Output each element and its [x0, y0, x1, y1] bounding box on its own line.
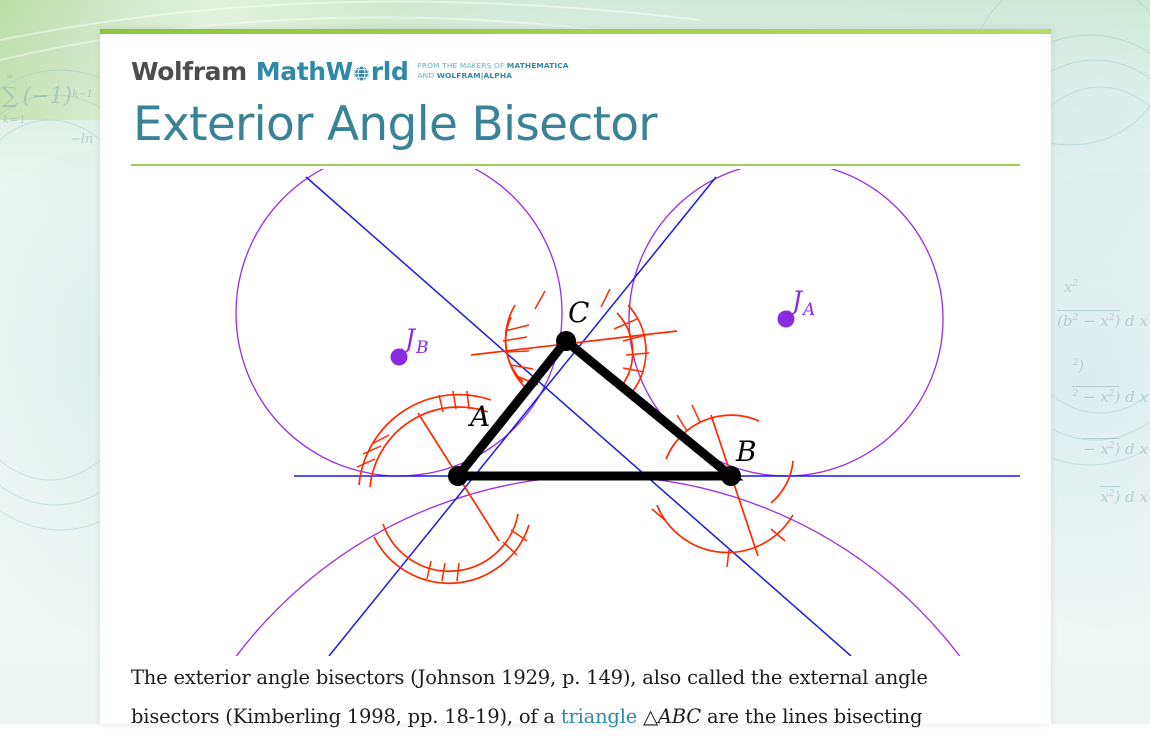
tagline-line-1: FROM THE MAKERS OF MATHEMATICA	[417, 61, 568, 70]
logo-wolfram-text: Wolfram	[131, 59, 247, 85]
body-line-2: bisectors (Kimberling 1998, pp. 18-19), …	[131, 697, 1020, 736]
background-formula: ∑ (−1)k−1	[2, 84, 93, 109]
card-top-accent-bar	[100, 29, 1051, 34]
page-title: Exterior Angle Bisector	[133, 96, 1020, 154]
logo-world-rld: rld	[371, 59, 409, 85]
exterior-angle-bisector-diagram[interactable]: C A B JB JA	[131, 169, 1020, 656]
vertex-label-c: C	[568, 296, 589, 329]
logo-world-w: W	[326, 59, 353, 85]
vertex-point-b	[721, 466, 741, 486]
triangle-link[interactable]: triangle	[561, 705, 637, 728]
body-line-1: The exterior angle bisectors (Johnson 19…	[131, 658, 1020, 697]
background-formula: x2) d x	[1100, 488, 1148, 506]
background-formula: −ln	[70, 132, 93, 147]
title-divider	[131, 164, 1020, 166]
article-body: The exterior angle bisectors (Johnson 19…	[131, 658, 1020, 736]
vertex-label-a: A	[467, 400, 490, 433]
vertex-point-a	[448, 466, 468, 486]
logo-mathworld-text: MathWrld	[256, 59, 409, 85]
site-logo[interactable]: Wolfram MathWrld FROM THE MAKERS OF MATH…	[131, 59, 1020, 85]
background-formula: x2	[1064, 278, 1078, 296]
background-formula: − x2) d x	[1083, 440, 1148, 458]
figure-container[interactable]: C A B JB JA	[131, 169, 1020, 656]
logo-math-text: Math	[256, 59, 326, 85]
content-card: Wolfram MathWrld FROM THE MAKERS OF MATH…	[100, 29, 1051, 724]
vertex-point-c	[556, 331, 576, 351]
vertex-label-b: B	[735, 435, 757, 468]
background-formula: 2 − x2) d x	[1072, 388, 1148, 406]
background-formula-sup: ∞	[6, 72, 14, 82]
background-formula: (b2 − x2) d x	[1057, 312, 1148, 330]
globe-icon	[353, 61, 370, 78]
logo-tagline: FROM THE MAKERS OF MATHEMATICA AND WOLFR…	[417, 61, 568, 80]
background-formula-sub: k = 1	[3, 115, 26, 126]
background-formula: 2)	[1071, 358, 1084, 375]
tagline-line-2: AND WOLFRAM|ALPHA	[417, 71, 512, 80]
